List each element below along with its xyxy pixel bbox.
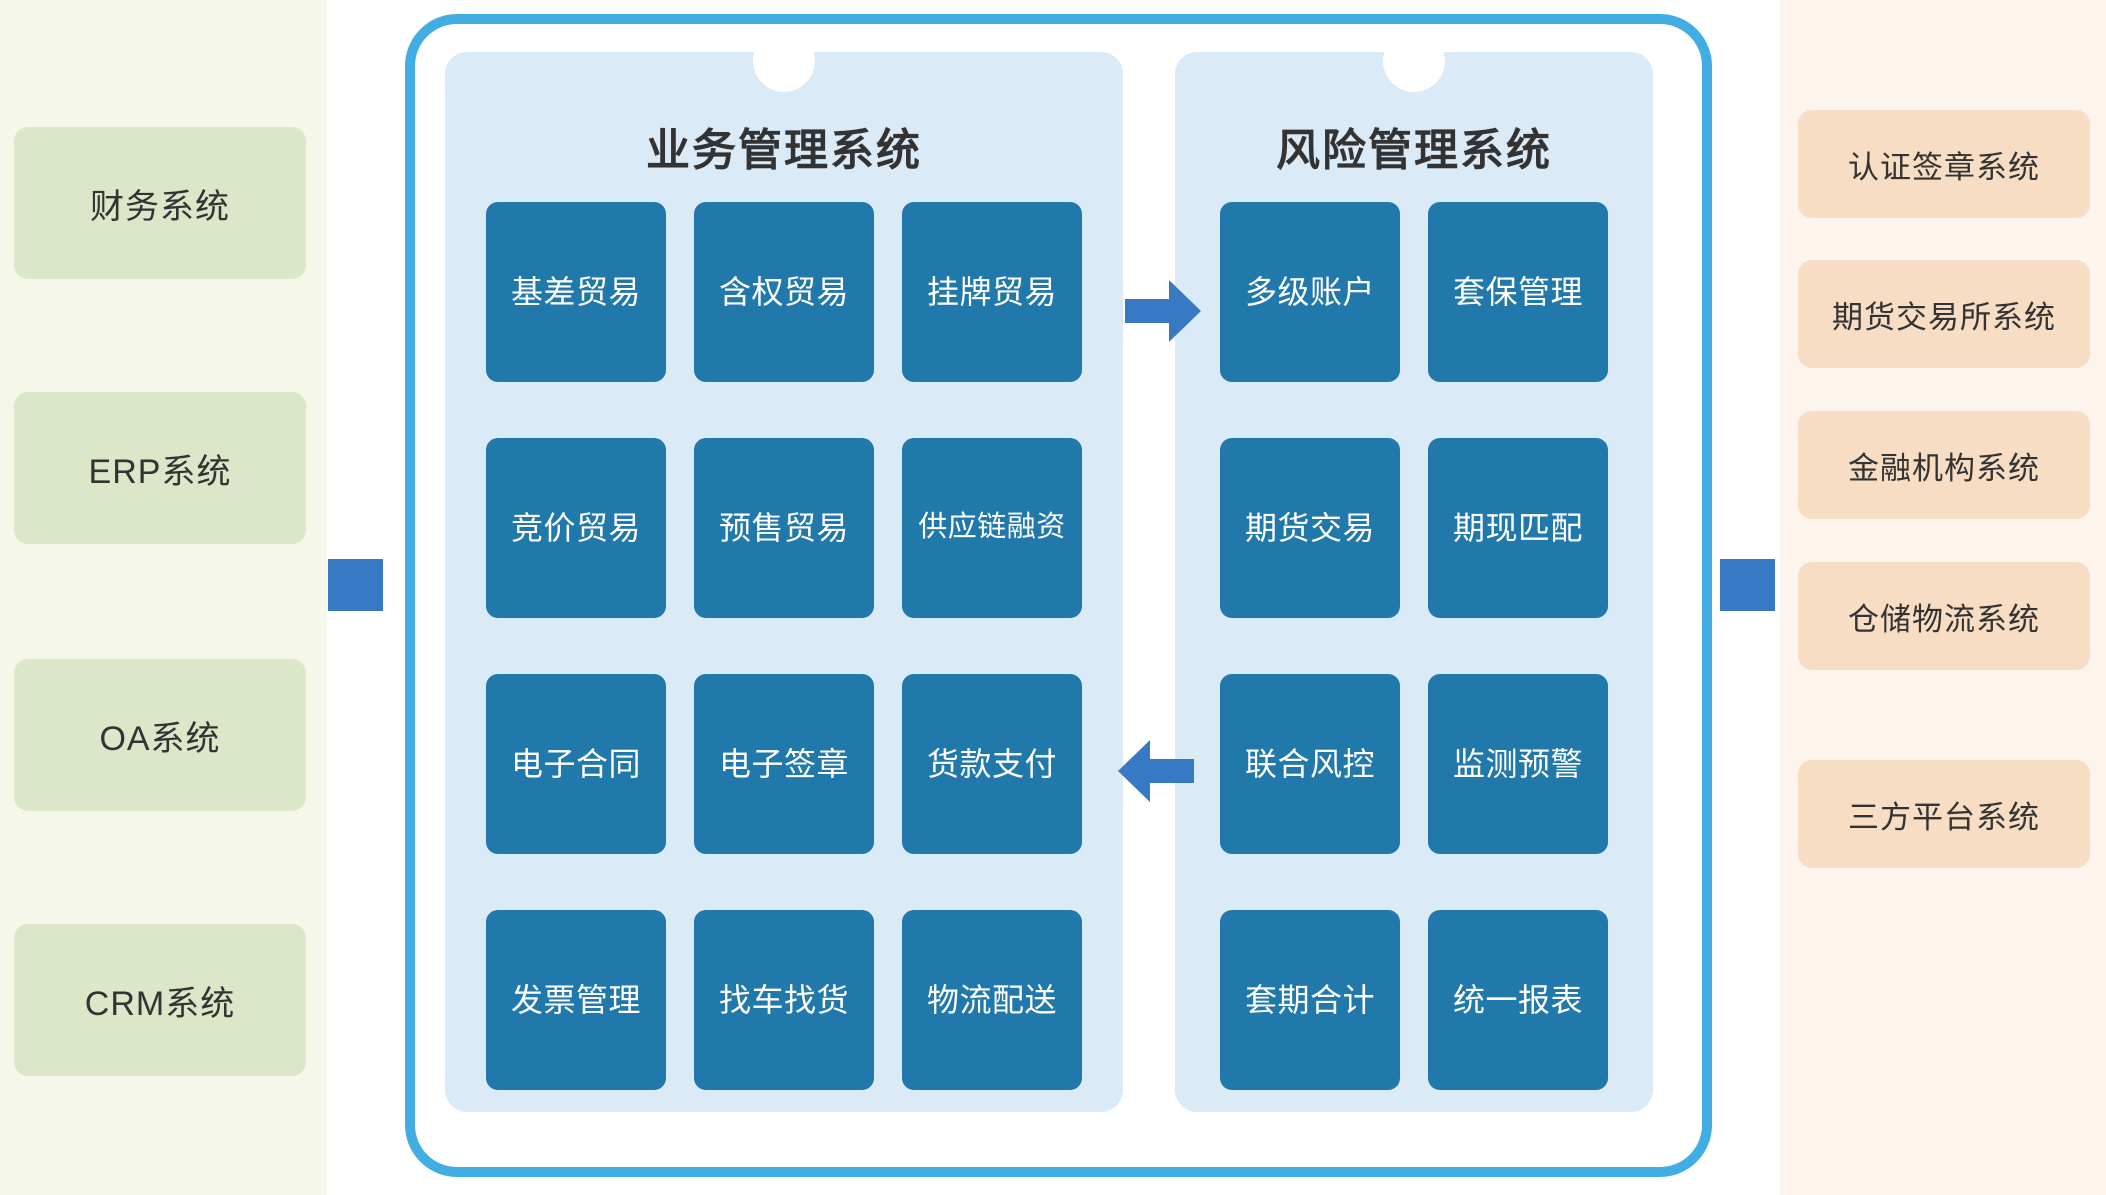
left-external-systems-column: 财务系统 ERP系统 OA系统 CRM系统 <box>0 0 327 1195</box>
tile-business-1[interactable]: 基差贸易 <box>486 202 666 382</box>
tile-risk-5[interactable]: 联合风控 <box>1220 674 1400 854</box>
right-external-systems-column: 认证签章系统 期货交易所系统 金融机构系统 仓储物流系统 三方平台系统 <box>1780 0 2106 1195</box>
left-system-box-1[interactable]: 财务系统 <box>14 127 306 279</box>
tile-business-4[interactable]: 竞价贸易 <box>486 438 666 618</box>
tile-business-12[interactable]: 物流配送 <box>902 910 1082 1090</box>
panel-risk-title: 风险管理系统 <box>1175 114 1653 178</box>
right-system-box-2[interactable]: 期货交易所系统 <box>1798 260 2090 368</box>
right-system-box-3[interactable]: 金融机构系统 <box>1798 411 2090 519</box>
arrow-left-icon <box>1118 740 1194 802</box>
tile-business-11[interactable]: 找车找货 <box>694 910 874 1090</box>
diagram-canvas: 财务系统 ERP系统 OA系统 CRM系统 业务管理系统 基差贸易 含权贸易 挂… <box>0 0 2106 1195</box>
tile-risk-1[interactable]: 多级账户 <box>1220 202 1400 382</box>
arrow-right-icon <box>1125 280 1201 342</box>
right-system-box-5[interactable]: 三方平台系统 <box>1798 760 2090 868</box>
tile-risk-7[interactable]: 套期合计 <box>1220 910 1400 1090</box>
risk-tile-grid: 多级账户 套保管理 期货交易 期现匹配 联合风控 监测预警 套期合计 统一报表 <box>1175 202 1653 1090</box>
business-tile-grid: 基差贸易 含权贸易 挂牌贸易 竞价贸易 预售贸易 供应链融资 电子合同 电子签章… <box>445 202 1123 1090</box>
tile-business-5[interactable]: 预售贸易 <box>694 438 874 618</box>
tile-business-7[interactable]: 电子合同 <box>486 674 666 854</box>
panel-notch-icon <box>753 30 815 92</box>
panel-notch-icon <box>1383 30 1445 92</box>
left-connector-block <box>328 559 383 611</box>
tile-business-6[interactable]: 供应链融资 <box>902 438 1082 618</box>
right-system-label-5: 三方平台系统 <box>1848 792 2040 837</box>
left-system-label-4: CRM系统 <box>85 976 235 1025</box>
tile-business-8[interactable]: 电子签章 <box>694 674 874 854</box>
left-system-box-4[interactable]: CRM系统 <box>14 924 306 1076</box>
tile-business-9[interactable]: 货款支付 <box>902 674 1082 854</box>
left-system-label-1: 财务系统 <box>90 179 230 228</box>
tile-business-2[interactable]: 含权贸易 <box>694 202 874 382</box>
tile-business-10[interactable]: 发票管理 <box>486 910 666 1090</box>
panel-risk-management: 风险管理系统 多级账户 套保管理 期货交易 期现匹配 联合风控 监测预警 套期合… <box>1175 52 1653 1112</box>
right-system-box-4[interactable]: 仓储物流系统 <box>1798 562 2090 670</box>
right-system-box-1[interactable]: 认证签章系统 <box>1798 110 2090 218</box>
tile-risk-4[interactable]: 期现匹配 <box>1428 438 1608 618</box>
panel-business-management: 业务管理系统 基差贸易 含权贸易 挂牌贸易 竞价贸易 预售贸易 供应链融资 电子… <box>445 52 1123 1112</box>
platform-frame: 业务管理系统 基差贸易 含权贸易 挂牌贸易 竞价贸易 预售贸易 供应链融资 电子… <box>405 14 1712 1177</box>
right-system-label-4: 仓储物流系统 <box>1848 594 2040 639</box>
right-system-label-1: 认证签章系统 <box>1848 142 2040 187</box>
right-system-label-3: 金融机构系统 <box>1848 443 2040 488</box>
left-system-box-3[interactable]: OA系统 <box>14 659 306 811</box>
tile-risk-8[interactable]: 统一报表 <box>1428 910 1608 1090</box>
left-system-label-3: OA系统 <box>99 711 220 760</box>
tile-risk-2[interactable]: 套保管理 <box>1428 202 1608 382</box>
tile-risk-3[interactable]: 期货交易 <box>1220 438 1400 618</box>
right-connector-block <box>1720 559 1775 611</box>
left-system-label-2: ERP系统 <box>89 444 232 493</box>
right-system-label-2: 期货交易所系统 <box>1832 292 2056 337</box>
panel-business-title: 业务管理系统 <box>445 114 1123 178</box>
left-system-box-2[interactable]: ERP系统 <box>14 392 306 544</box>
tile-risk-6[interactable]: 监测预警 <box>1428 674 1608 854</box>
tile-business-3[interactable]: 挂牌贸易 <box>902 202 1082 382</box>
